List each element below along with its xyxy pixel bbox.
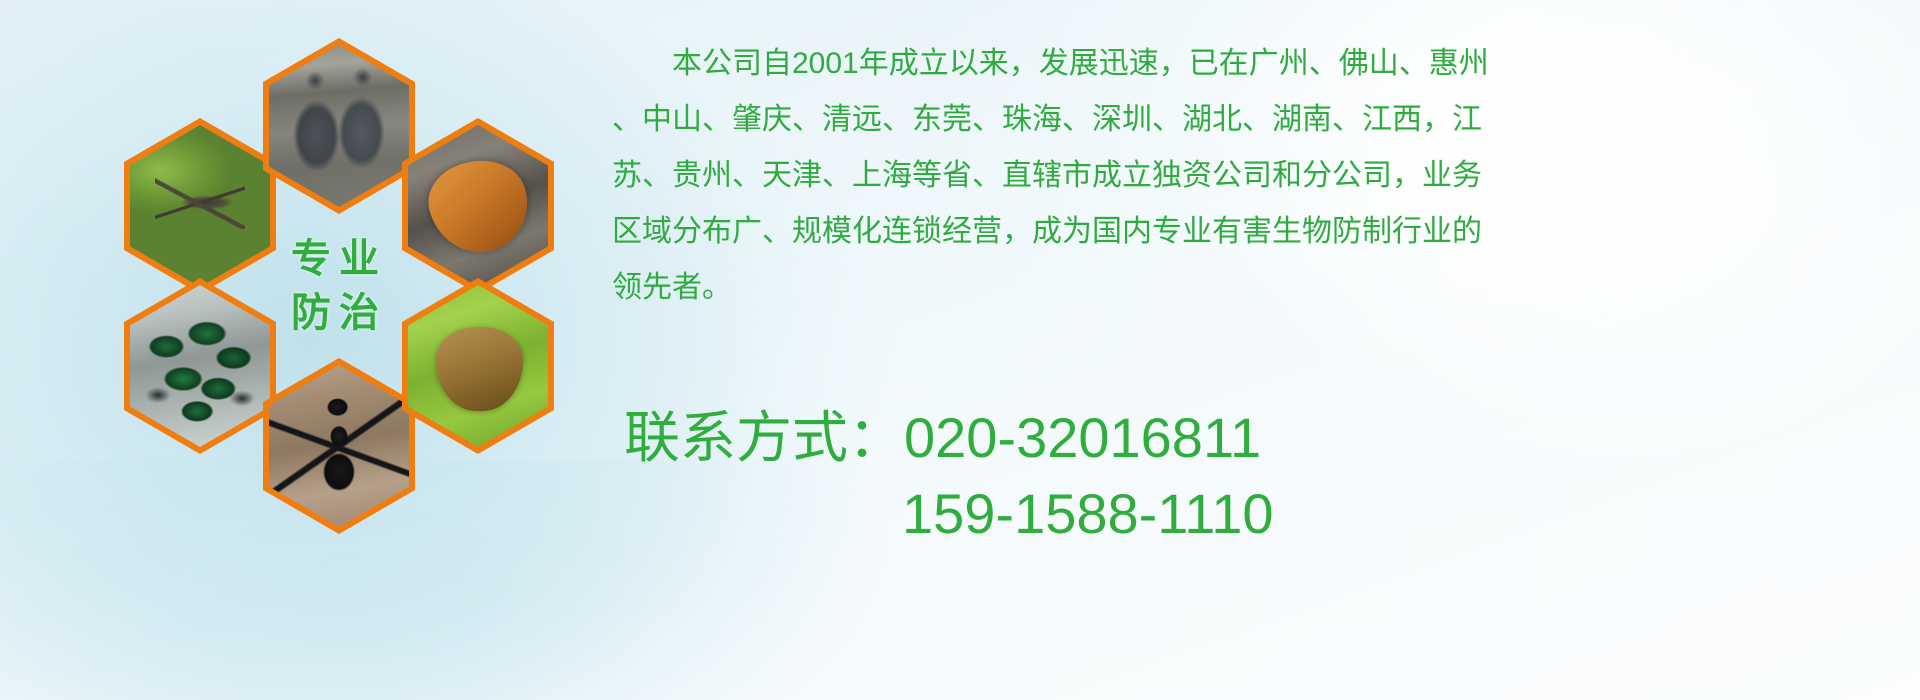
hexagon-inner-cockroach	[408, 125, 548, 287]
hexagon-photo-mosquito	[124, 118, 276, 294]
badge-word-line-1: 专业	[291, 239, 387, 279]
hexagon-inner-ant	[269, 365, 409, 527]
hexagon-inner-stinkbug	[408, 285, 548, 447]
flies-photo	[130, 285, 270, 447]
intro-line-1: 本公司自2001年成立以来，发展迅速，已在广州、佛山、惠州	[612, 36, 1912, 92]
intro-line-5: 领先者。	[612, 260, 1912, 316]
hexagon-photo-flies	[124, 278, 276, 454]
hexagon-inner-mosquito	[130, 125, 270, 287]
cockroach-photo	[408, 125, 548, 287]
mosquito-photo	[130, 125, 270, 287]
hexagon-center-badge: 专业 防治	[263, 198, 415, 374]
hexagon-inner-center: 专业 防治	[269, 205, 409, 367]
stinkbug-photo	[408, 285, 548, 447]
intro-line-2: 、中山、肇庆、清远、东莞、珠海、深圳、湖北、湖南、江西，江	[612, 92, 1912, 148]
ant-photo	[269, 365, 409, 527]
hexagon-photo-cockroach	[402, 118, 554, 294]
hexagon-photo-rat	[263, 38, 415, 214]
promo-banner: 专业 防治 本公司自2001年成立以来，发展迅速，已在广州、佛山、惠州 、中山、…	[0, 0, 1920, 700]
hexagon-photo-stinkbug	[402, 278, 554, 454]
contact-secondary-phone-line[interactable]: 159-1588-1110	[624, 476, 1920, 552]
rat-photo	[269, 45, 409, 207]
intro-line-4: 区域分布广、规模化连锁经营，成为国内专业有害生物防制行业的	[612, 204, 1912, 260]
badge-word-line-2: 防治	[291, 293, 387, 333]
hexagon-inner-flies	[130, 285, 270, 447]
intro-copy-block: 本公司自2001年成立以来，发展迅速，已在广州、佛山、惠州 、中山、肇庆、清远、…	[612, 36, 1912, 316]
hexagon-photo-ant	[263, 358, 415, 534]
intro-paragraph: 本公司自2001年成立以来，发展迅速，已在广州、佛山、惠州 、中山、肇庆、清远、…	[612, 36, 1912, 316]
hexagon-photo-cluster: 专业 防治	[86, 10, 586, 550]
hexagon-inner-rat	[269, 45, 409, 207]
contact-block: 联系方式：020-32016811 159-1588-1110	[624, 400, 1920, 552]
intro-line-3: 苏、贵州、天津、上海等省、直辖市成立独资公司和分公司，业务	[612, 148, 1912, 204]
contact-primary-phone-line[interactable]: 联系方式：020-32016811	[624, 400, 1920, 476]
